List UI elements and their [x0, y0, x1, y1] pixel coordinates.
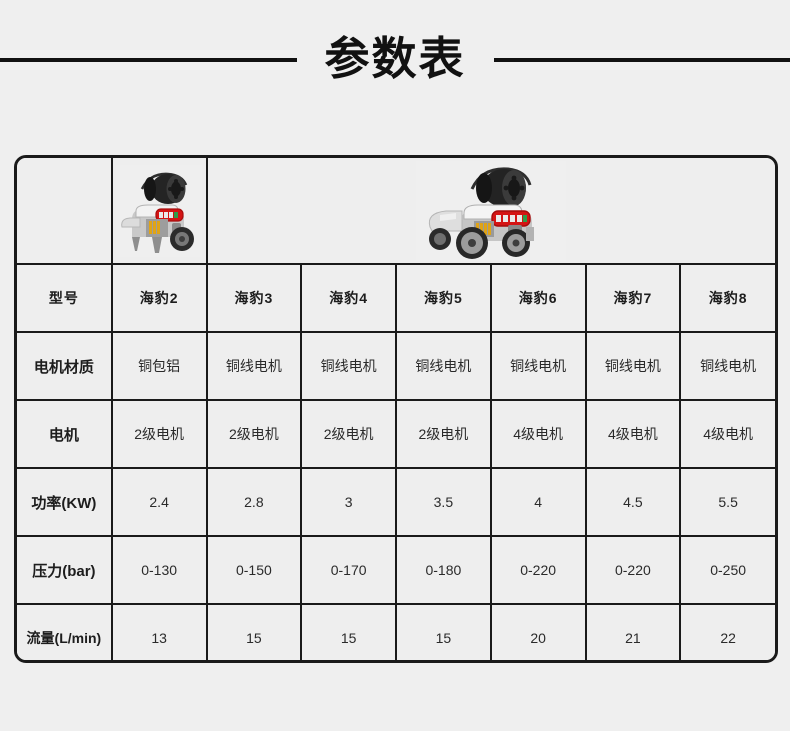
title-rule-left — [0, 58, 297, 62]
cell-flow-2: 15 — [301, 604, 396, 663]
pressure-washer-4wheel-icon — [416, 161, 566, 261]
page-title: 参数表 — [325, 36, 466, 85]
cell-flow-4: 20 — [491, 604, 586, 663]
row-label-motor-material: 电机材质 — [17, 332, 112, 400]
header-cell-model-3: 海豹5 — [396, 264, 491, 332]
page-title-banner: 参数表 — [0, 0, 790, 120]
cell-motor-material-0: 铜包铝 — [112, 332, 207, 400]
cell-motor-material-3: 铜线电机 — [396, 332, 491, 400]
product-image-cell-empty — [17, 158, 112, 264]
pressure-washer-2wheel-icon — [116, 165, 202, 257]
cell-motor-material-2: 铜线电机 — [301, 332, 396, 400]
cell-motor-4: 4级电机 — [491, 400, 586, 468]
header-cell-model-1: 海豹3 — [207, 264, 302, 332]
cell-motor-2: 2级电机 — [301, 400, 396, 468]
cell-pressure-3: 0-180 — [396, 536, 491, 604]
cell-power-5: 4.5 — [586, 468, 681, 536]
cell-pressure-4: 0-220 — [491, 536, 586, 604]
cell-motor-material-4: 铜线电机 — [491, 332, 586, 400]
cell-power-3: 3.5 — [396, 468, 491, 536]
cell-motor-material-5: 铜线电机 — [586, 332, 681, 400]
spec-table: 型号 海豹2 海豹3 海豹4 海豹5 海豹6 海豹7 海豹8 电机材质 铜包铝 … — [17, 158, 775, 663]
cell-power-6: 5.5 — [680, 468, 775, 536]
row-label-pressure: 压力(bar) — [17, 536, 112, 604]
row-label-power: 功率(KW) — [17, 468, 112, 536]
row-label-motor: 电机 — [17, 400, 112, 468]
header-cell-model-2: 海豹4 — [301, 264, 396, 332]
cell-motor-3: 2级电机 — [396, 400, 491, 468]
row-label-flow: 流量(L/min) — [17, 604, 112, 663]
cell-flow-3: 15 — [396, 604, 491, 663]
table-header-row: 型号 海豹2 海豹3 海豹4 海豹5 海豹6 海豹7 海豹8 — [17, 264, 775, 332]
cell-pressure-5: 0-220 — [586, 536, 681, 604]
cell-power-1: 2.8 — [207, 468, 302, 536]
cell-flow-1: 15 — [207, 604, 302, 663]
header-cell-model-label: 型号 — [17, 264, 112, 332]
table-row: 压力(bar) 0-130 0-150 0-170 0-180 0-220 0-… — [17, 536, 775, 604]
cell-pressure-2: 0-170 — [301, 536, 396, 604]
cell-power-0: 2.4 — [112, 468, 207, 536]
cell-flow-0: 13 — [112, 604, 207, 663]
cell-motor-6: 4级电机 — [680, 400, 775, 468]
cell-motor-1: 2级电机 — [207, 400, 302, 468]
header-cell-model-4: 海豹6 — [491, 264, 586, 332]
table-row: 功率(KW) 2.4 2.8 3 3.5 4 4.5 5.5 — [17, 468, 775, 536]
product-image-cell-model-2 — [112, 158, 207, 264]
cell-power-4: 4 — [491, 468, 586, 536]
cell-motor-material-1: 铜线电机 — [207, 332, 302, 400]
cell-motor-material-6: 铜线电机 — [680, 332, 775, 400]
title-rule-right — [494, 58, 790, 62]
table-row: 电机材质 铜包铝 铜线电机 铜线电机 铜线电机 铜线电机 铜线电机 铜线电机 — [17, 332, 775, 400]
cell-motor-0: 2级电机 — [112, 400, 207, 468]
cell-power-2: 3 — [301, 468, 396, 536]
product-image-cell-models-3-8 — [207, 158, 776, 264]
header-cell-model-5: 海豹7 — [586, 264, 681, 332]
table-row: 流量(L/min) 13 15 15 15 20 21 22 — [17, 604, 775, 663]
spec-table-container: 型号 海豹2 海豹3 海豹4 海豹5 海豹6 海豹7 海豹8 电机材质 铜包铝 … — [14, 155, 778, 663]
cell-flow-6: 22 — [680, 604, 775, 663]
header-cell-model-6: 海豹8 — [680, 264, 775, 332]
product-image-row — [17, 158, 775, 264]
table-row: 电机 2级电机 2级电机 2级电机 2级电机 4级电机 4级电机 4级电机 — [17, 400, 775, 468]
cell-motor-5: 4级电机 — [586, 400, 681, 468]
cell-pressure-1: 0-150 — [207, 536, 302, 604]
cell-flow-5: 21 — [586, 604, 681, 663]
header-cell-model-0: 海豹2 — [112, 264, 207, 332]
cell-pressure-6: 0-250 — [680, 536, 775, 604]
cell-pressure-0: 0-130 — [112, 536, 207, 604]
